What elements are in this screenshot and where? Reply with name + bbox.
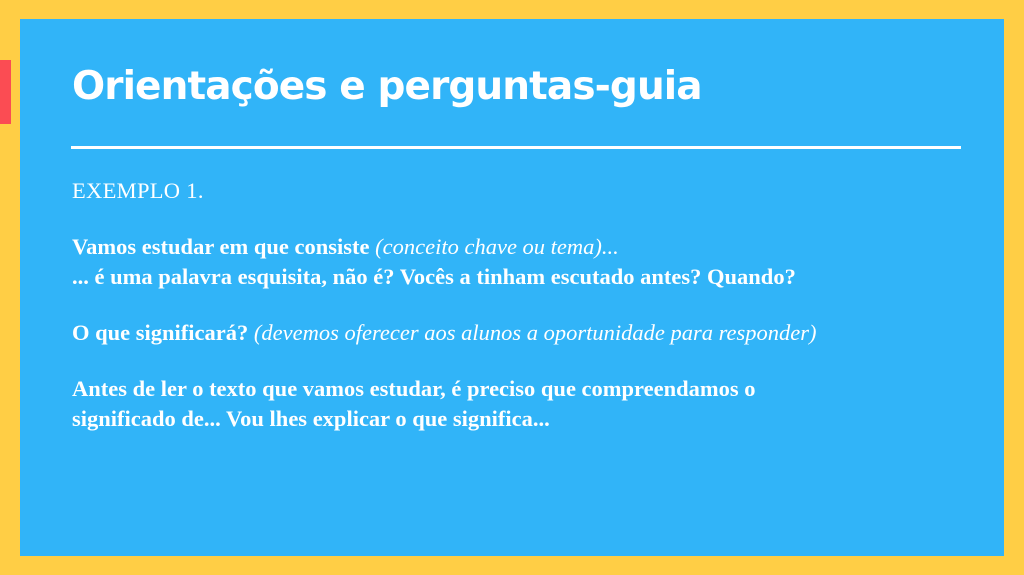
slide-canvas: Orientações e perguntas-guia EXEMPLO 1. … [20,19,1004,556]
paragraph-3-line-1: Antes de ler o texto que vamos estudar, … [72,374,972,404]
body-content: EXEMPLO 1. Vamos estudar em que consiste… [72,177,972,434]
paragraph-2-line-1-italic: (devemos oferecer aos alunos a oportunid… [254,320,817,345]
title-divider [71,146,961,149]
paragraph-1-line-2: ... é uma palavra esquisita, não é? Você… [72,262,972,292]
paragraph-2-line-1: O que significará? (devemos oferecer aos… [72,318,972,348]
paragraph-1: Vamos estudar em que consiste (conceito … [72,232,972,292]
page-title: Orientações e perguntas-guia [72,65,702,110]
paragraph-1-line-1-bold: Vamos estudar em que consiste [72,234,375,259]
spacer [72,348,972,374]
paragraph-1-line-1: Vamos estudar em que consiste (conceito … [72,232,972,262]
paragraph-2: O que significará? (devemos oferecer aos… [72,318,972,348]
spacer [72,205,972,232]
spacer [72,292,972,318]
accent-bar [0,60,11,124]
paragraph-3: Antes de ler o texto que vamos estudar, … [72,374,972,434]
paragraph-1-line-1-italic: (conceito chave ou tema)... [375,234,619,259]
example-label: EXEMPLO 1. [72,177,972,205]
paragraph-2-line-1-bold: O que significará? [72,320,254,345]
slide: Orientações e perguntas-guia EXEMPLO 1. … [0,0,1024,575]
paragraph-3-line-2: significado de... Vou lhes explicar o qu… [72,404,972,434]
